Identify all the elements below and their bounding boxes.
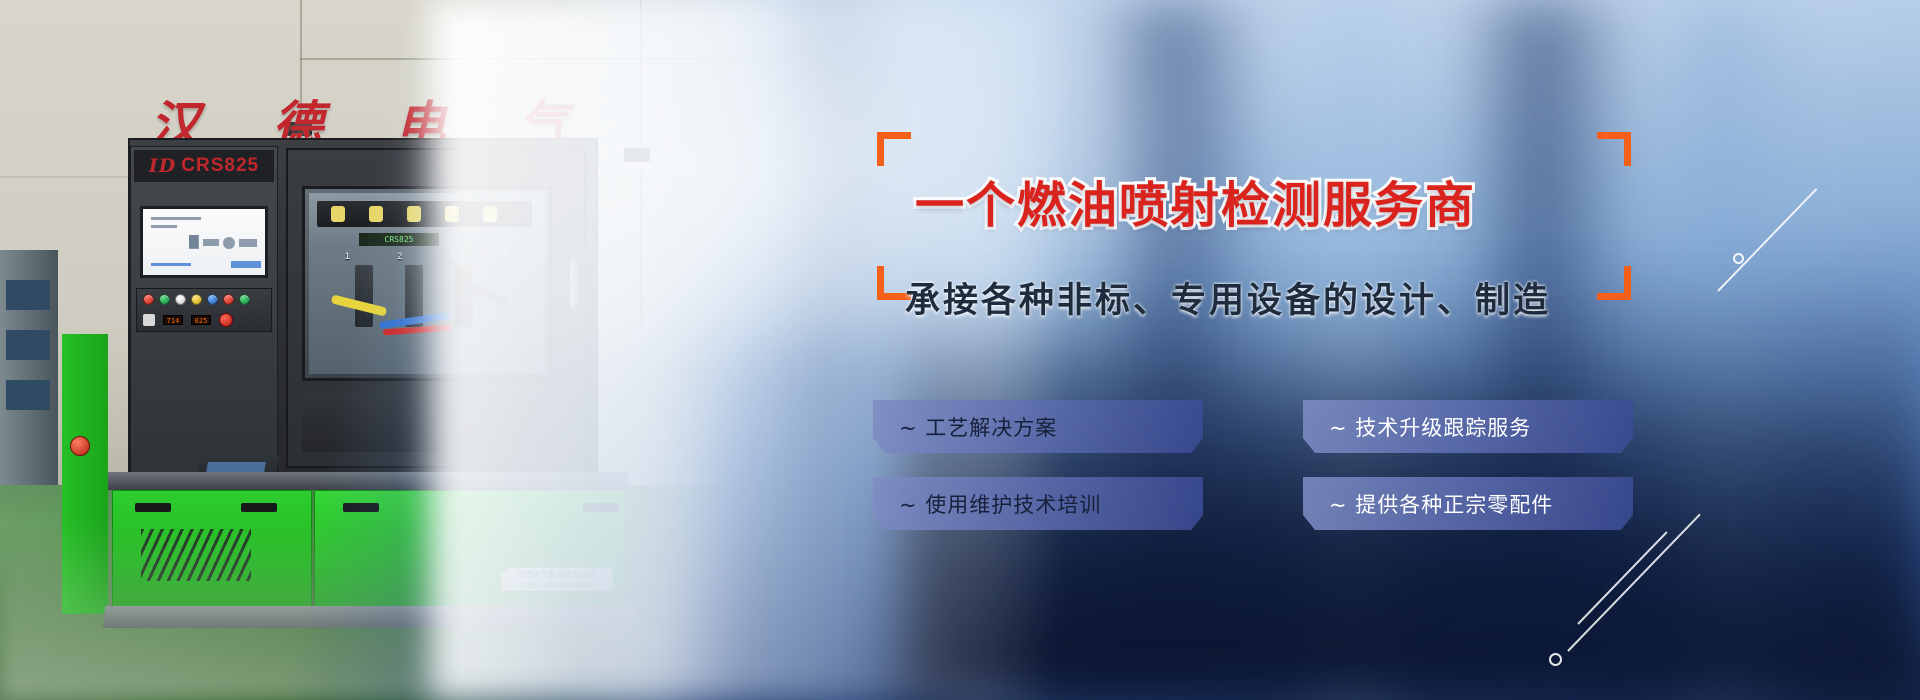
- banner-headline: 一个燃油喷射检测服务商: [915, 166, 1476, 237]
- promo-banner: 汉 德 电 气 ID CRS825: [0, 0, 1920, 700]
- feature-tag-grid: ~ 工艺解决方案 ~ 技术升级跟踪服务 ~ 使用维护技术培训 ~ 提供各种正宗零…: [873, 400, 1633, 554]
- decorative-line: [1717, 188, 1817, 292]
- banner-subline: 承接各种非标、专用设备的设计、制造: [905, 272, 1551, 323]
- banner-content: 一个燃油喷射检测服务商 承接各种非标、专用设备的设计、制造 ~ 工艺解决方案 ~…: [0, 0, 1920, 700]
- feature-tag-genuine-parts[interactable]: ~ 提供各种正宗零配件: [1303, 477, 1633, 530]
- feature-tag-row: ~ 使用维护技术培训 ~ 提供各种正宗零配件: [873, 477, 1633, 530]
- decorative-circle: [1733, 253, 1744, 264]
- feature-tag-tech-upgrade-service[interactable]: ~ 技术升级跟踪服务: [1303, 400, 1633, 453]
- feature-tag-process-solution[interactable]: ~ 工艺解决方案: [873, 400, 1203, 453]
- feature-tag-maintenance-training[interactable]: ~ 使用维护技术培训: [873, 477, 1203, 530]
- decorative-circle: [1549, 653, 1562, 666]
- feature-tag-row: ~ 工艺解决方案 ~ 技术升级跟踪服务: [873, 400, 1633, 453]
